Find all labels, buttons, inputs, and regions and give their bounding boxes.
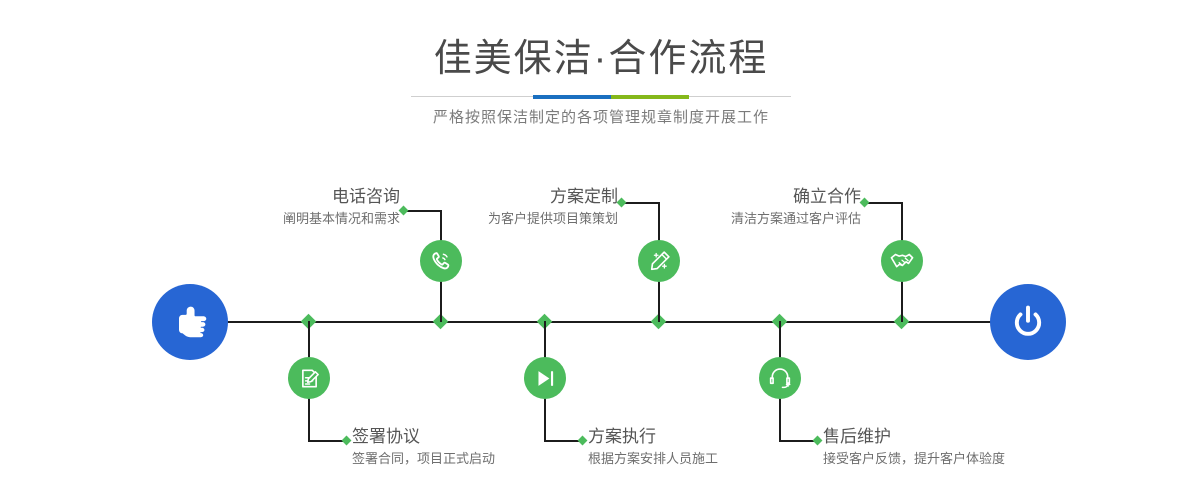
power-button-icon xyxy=(1007,301,1049,343)
connector-arm-4 xyxy=(544,440,582,442)
play-execute-icon xyxy=(533,366,558,391)
step-desc-6: 接受客户反馈，提升客户体验度 xyxy=(823,448,1143,470)
step-node-6[interactable] xyxy=(759,357,801,399)
pencil-ruler-icon xyxy=(647,249,672,274)
phone-call-icon xyxy=(428,248,454,274)
step-node-1[interactable] xyxy=(420,240,462,282)
step-node-5[interactable] xyxy=(881,240,923,282)
step-title-6: 售后维护 xyxy=(823,426,1143,448)
headset-support-icon xyxy=(767,365,793,391)
handshake-icon xyxy=(889,248,915,274)
connector-arm-6 xyxy=(779,440,817,442)
timeline-start-marker xyxy=(152,284,228,360)
step-node-4[interactable] xyxy=(524,357,566,399)
label-dot-5 xyxy=(860,198,870,208)
connector-arm-2 xyxy=(308,440,346,442)
step-label-5: 确立合作 清洁方案通过客户评估 xyxy=(595,186,861,230)
step-desc-3: 为客户提供项目策策划 xyxy=(352,208,618,230)
step-node-3[interactable] xyxy=(638,240,680,282)
step-title-3: 方案定制 xyxy=(352,186,618,208)
step-title-5: 确立合作 xyxy=(595,186,861,208)
step-desc-5: 清洁方案通过客户评估 xyxy=(595,208,861,230)
document-edit-icon xyxy=(297,366,322,391)
pointing-hand-icon xyxy=(168,300,212,344)
process-timeline: 电话咨询 阐明基本情况和需求 签署协议 签署合同，项目正式启动 xyxy=(0,0,1202,502)
connector-arm-5 xyxy=(865,202,903,204)
step-label-3: 方案定制 为客户提供项目策策划 xyxy=(352,186,618,230)
timeline-end-marker xyxy=(990,284,1066,360)
step-node-2[interactable] xyxy=(288,357,330,399)
label-dot-2 xyxy=(342,436,352,446)
step-label-6: 售后维护 接受客户反馈，提升客户体验度 xyxy=(823,426,1143,470)
